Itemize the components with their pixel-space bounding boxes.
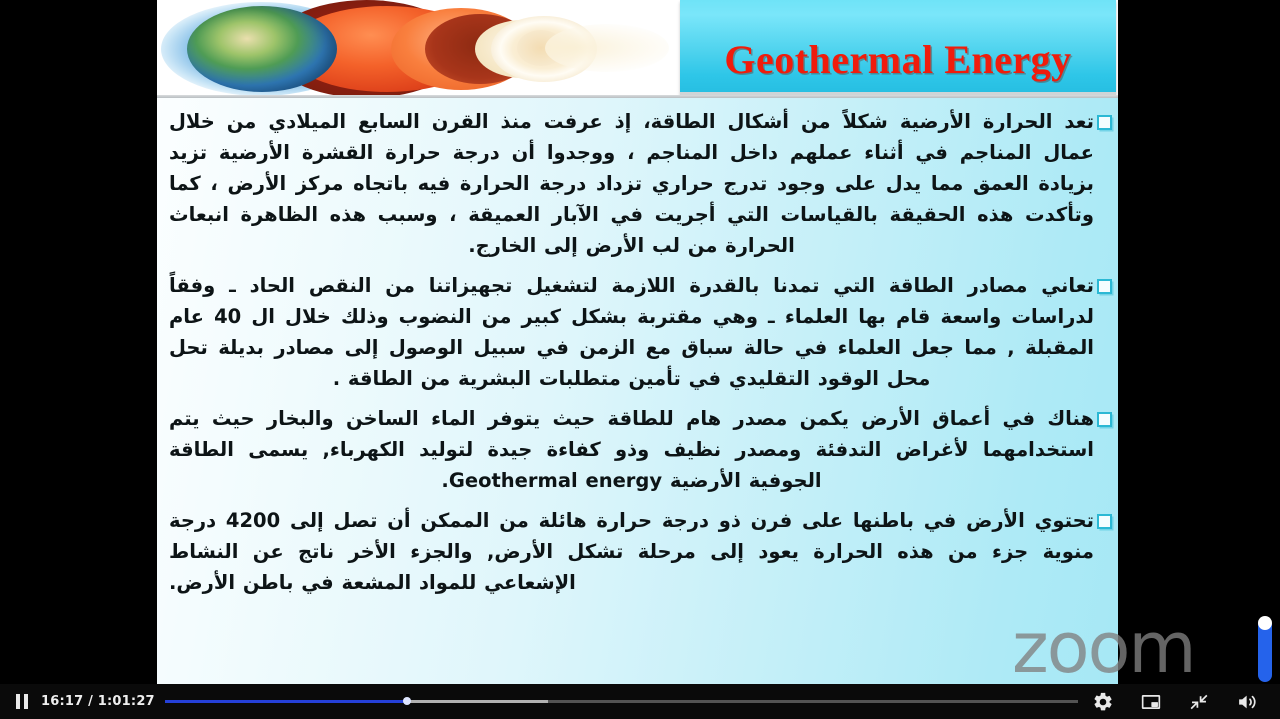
earth-globe-surface <box>187 6 337 92</box>
slide-title-banner: Geothermal Energy <box>680 0 1116 95</box>
square-bullet-icon <box>1097 412 1112 427</box>
page-title: Geothermal Energy <box>724 36 1071 83</box>
pause-icon[interactable] <box>16 694 29 709</box>
player-left-controls: 16:17 / 1:01:27 <box>0 694 155 709</box>
volume-icon[interactable] <box>1236 691 1258 713</box>
letterbox-left <box>0 0 157 684</box>
settings-gear-icon[interactable] <box>1092 691 1114 713</box>
bullet-paragraph: تعاني مصادر الطاقة التي تمدنا بالقدرة ال… <box>165 270 1112 394</box>
bullet-paragraph: تعد الحرارة الأرضية شكلاً من أشكال الطاق… <box>165 106 1112 261</box>
player-control-bar: 16:17 / 1:01:27 <box>0 684 1280 719</box>
square-bullet-icon <box>1097 115 1112 130</box>
progress-fill <box>165 700 407 703</box>
earth-heat-trail <box>545 24 669 72</box>
bullet-paragraph: تحتوي الأرض في باطنها على فرن ذو درجة حر… <box>165 505 1112 598</box>
earth-cross-section-image <box>159 0 679 96</box>
letterbox-right <box>1118 0 1280 684</box>
paragraph-text: تحتوي الأرض في باطنها على فرن ذو درجة حر… <box>165 505 1094 598</box>
time-display: 16:17 / 1:01:27 <box>41 694 155 709</box>
slide-header: Geothermal Energy <box>157 0 1118 98</box>
player-right-controls <box>1092 691 1280 713</box>
square-bullet-icon <box>1097 279 1112 294</box>
progress-knob[interactable] <box>403 697 411 705</box>
shared-screen-slide: Geothermal Energy تعد الحرارة الأرضية شك… <box>157 0 1118 684</box>
paragraph-text: هناك في أعماق الأرض يكمن مصدر هام للطاقة… <box>165 403 1094 496</box>
seek-bar[interactable] <box>165 684 1078 719</box>
bullet-paragraph: هناك في أعماق الأرض يكمن مصدر هام للطاقة… <box>165 403 1112 496</box>
paragraph-text: تعد الحرارة الأرضية شكلاً من أشكال الطاق… <box>165 106 1094 261</box>
slide-body: تعد الحرارة الأرضية شكلاً من أشكال الطاق… <box>157 98 1118 684</box>
square-bullet-icon <box>1097 514 1112 529</box>
video-player-viewport: Geothermal Energy تعد الحرارة الأرضية شك… <box>0 0 1280 719</box>
paragraph-text: تعاني مصادر الطاقة التي تمدنا بالقدرة ال… <box>165 270 1094 394</box>
picture-in-picture-icon[interactable] <box>1140 691 1162 713</box>
exit-fullscreen-icon[interactable] <box>1188 691 1210 713</box>
